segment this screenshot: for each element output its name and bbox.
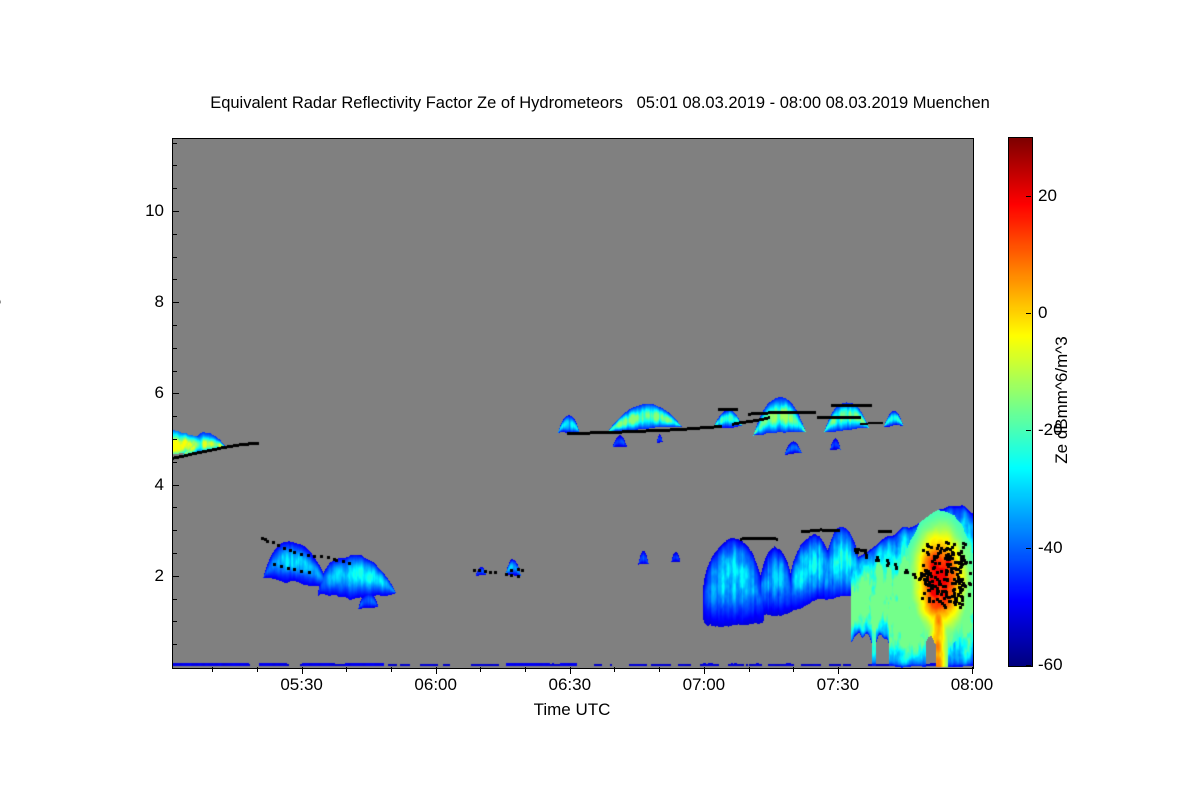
x-tick-label: 08:00 (937, 675, 1007, 695)
colorbar-tick-mark (1026, 665, 1031, 666)
colorbar-gradient (1009, 138, 1032, 666)
y-tick-mark-minor (172, 371, 177, 372)
y-tick-label: 6 (130, 383, 164, 403)
figure-title: Equivalent Radar Reflectivity Factor Ze … (0, 94, 1200, 113)
y-tick-mark (172, 302, 179, 303)
y-tick-mark-minor (172, 325, 177, 326)
colorbar-tick-mark (1026, 430, 1031, 431)
x-tick-mark-minor (212, 667, 213, 672)
x-tick-mark (838, 667, 839, 674)
x-tick-label: 07:30 (803, 675, 873, 695)
colorbar-tick-mark (1026, 313, 1031, 314)
y-tick-mark-minor (172, 621, 177, 622)
colorbar-tick-label: -40 (1038, 538, 1063, 558)
y-axis-label: Height AGL km (0, 218, 2, 332)
x-tick-mark (972, 667, 973, 674)
x-tick-mark (436, 667, 437, 674)
y-tick-mark-minor (172, 416, 177, 417)
y-tick-mark-minor (172, 553, 177, 554)
y-tick-mark-minor (172, 644, 177, 645)
x-tick-mark-minor (749, 667, 750, 672)
x-tick-mark (302, 667, 303, 674)
x-tick-mark-minor (391, 667, 392, 672)
radar-reflectivity-heatmap (173, 139, 973, 668)
y-tick-mark-minor (172, 530, 177, 531)
colorbar-tick-label: -20 (1038, 420, 1063, 440)
y-tick-mark-minor (172, 279, 177, 280)
x-tick-mark-minor (525, 667, 526, 672)
y-tick-mark (172, 211, 179, 212)
y-tick-label: 8 (130, 292, 164, 312)
y-tick-mark-minor (172, 507, 177, 508)
y-tick-label: 10 (130, 201, 164, 221)
colorbar-tick-label: -60 (1038, 655, 1063, 675)
y-tick-mark-minor (172, 188, 177, 189)
x-tick-mark-minor (257, 667, 258, 672)
y-tick-mark (172, 576, 179, 577)
x-tick-mark-minor (614, 667, 615, 672)
x-axis-label: Time UTC (534, 700, 611, 720)
y-tick-mark-minor (172, 439, 177, 440)
x-tick-mark-minor (659, 667, 660, 672)
y-tick-mark-minor (172, 348, 177, 349)
colorbar-tick-mark (1026, 548, 1031, 549)
x-tick-mark-minor (346, 667, 347, 672)
x-tick-label: 06:00 (401, 675, 471, 695)
y-tick-mark-minor (172, 257, 177, 258)
y-tick-mark (172, 393, 179, 394)
y-tick-mark-minor (172, 234, 177, 235)
figure-canvas: Equivalent Radar Reflectivity Factor Ze … (0, 0, 1200, 800)
y-tick-mark-minor (172, 143, 177, 144)
colorbar-tick-label: 0 (1038, 303, 1047, 323)
x-tick-mark-minor (480, 667, 481, 672)
colorbar-label: Ze dBmm^6/m^3 (1052, 336, 1072, 463)
y-tick-label: 2 (130, 566, 164, 586)
colorbar-tick-mark (1026, 196, 1031, 197)
y-tick-mark-minor (172, 599, 177, 600)
x-tick-mark-minor (793, 667, 794, 672)
colorbar-tick-label: 20 (1038, 186, 1057, 206)
plot-area[interactable] (172, 138, 974, 669)
y-tick-label: 4 (130, 475, 164, 495)
y-tick-mark (172, 485, 179, 486)
x-tick-mark (704, 667, 705, 674)
x-tick-label: 05:30 (267, 675, 337, 695)
y-tick-mark-minor (172, 462, 177, 463)
x-tick-label: 06:30 (535, 675, 605, 695)
x-tick-label: 07:00 (669, 675, 739, 695)
x-tick-mark (570, 667, 571, 674)
y-tick-mark-minor (172, 165, 177, 166)
colorbar[interactable] (1008, 137, 1033, 667)
